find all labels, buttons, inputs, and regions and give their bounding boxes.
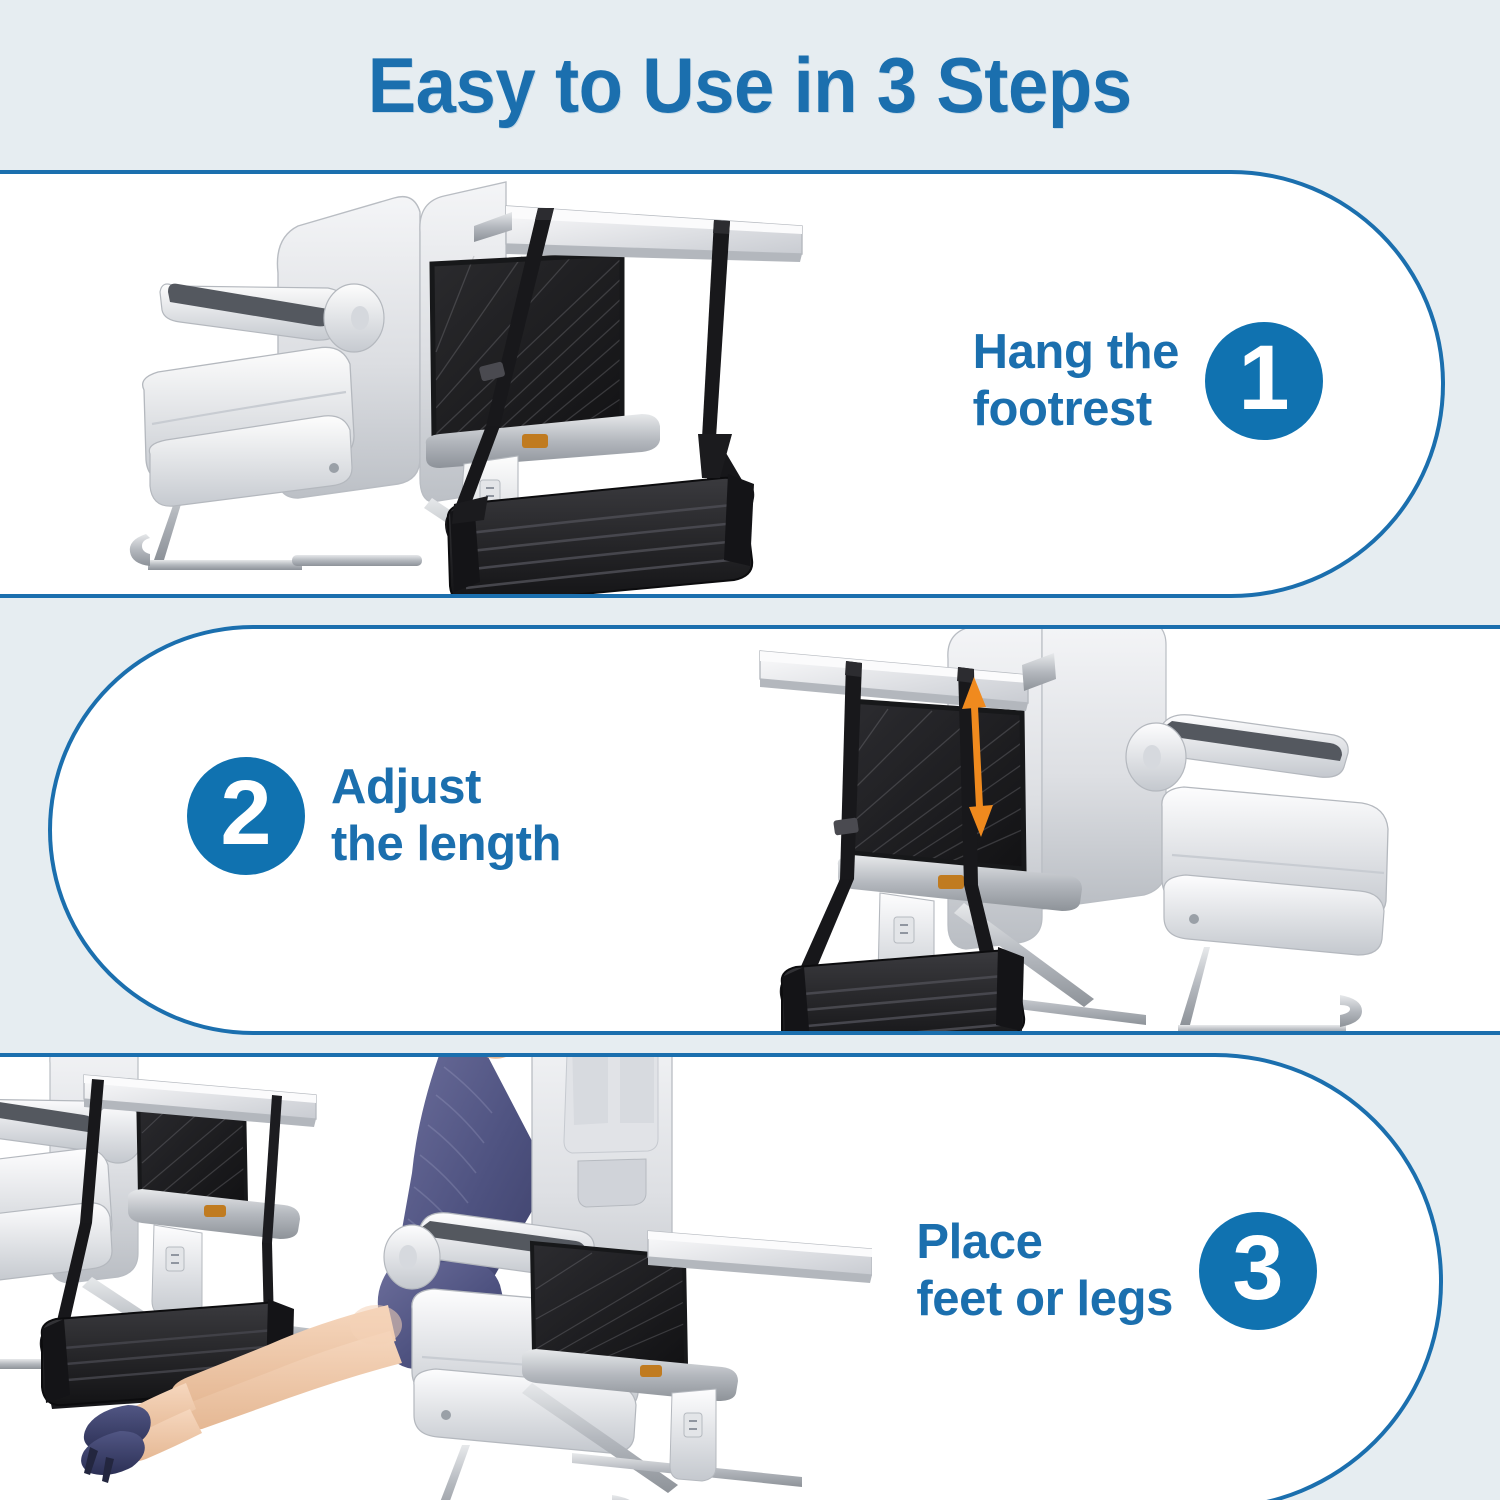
step-caption-2: 2 Adjust the length [187, 757, 561, 875]
illustration-step-1 [102, 170, 822, 598]
step-caption-1: Hang the footrest 1 [973, 322, 1323, 440]
title-bar: Easy to Use in 3 Steps [0, 0, 1500, 170]
step-panel-3: Place feet or legs 3 [0, 1053, 1443, 1500]
step-number-badge-2: 2 [187, 757, 305, 875]
step-number-badge-3: 3 [1199, 1212, 1317, 1330]
step-label-2: Adjust the length [331, 759, 561, 873]
page-title: Easy to Use in 3 Steps [368, 40, 1132, 131]
illustration-step-3 [0, 1053, 872, 1500]
step-caption-3: Place feet or legs 3 [916, 1212, 1317, 1330]
illustration-step-2 [742, 625, 1500, 1035]
step-label-3: Place feet or legs [916, 1214, 1173, 1328]
step-label-1: Hang the footrest [973, 324, 1179, 438]
step-number-badge-1: 1 [1205, 322, 1323, 440]
step-panel-1: Hang the footrest 1 [0, 170, 1445, 598]
step-panel-2: 2 Adjust the length [48, 625, 1500, 1035]
